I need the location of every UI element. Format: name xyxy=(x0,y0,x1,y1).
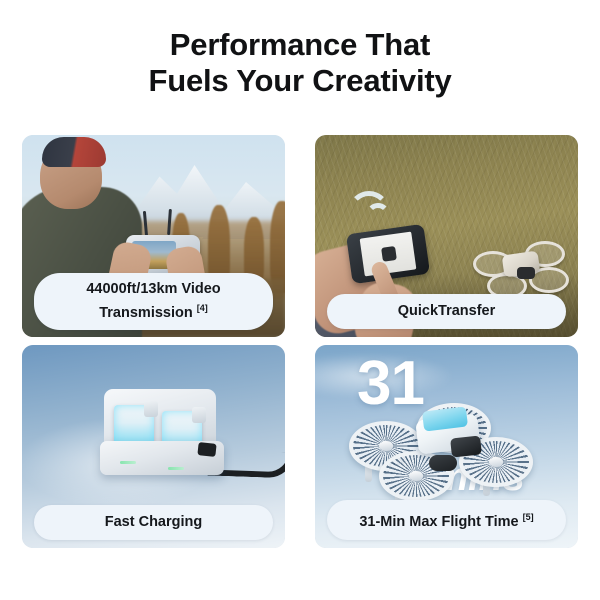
charge-indicator-led xyxy=(168,467,184,470)
drone-gimbal xyxy=(429,455,457,471)
wifi-arc-inner xyxy=(366,203,390,227)
rotor-hub xyxy=(379,441,393,451)
card-label-flight-time: 31-Min Max Flight Time [5] xyxy=(327,500,566,540)
card-label-quicktransfer: QuickTransfer xyxy=(327,294,566,329)
page-title: Performance That Fuels Your Creativity xyxy=(0,27,600,99)
card-label-line-1: 44000ft/13km Video xyxy=(86,281,220,297)
promo-page: Performance That Fuels Your Creativity xyxy=(0,0,600,600)
feature-card-grid: 44000ft/13km Video Transmission [4] xyxy=(22,135,578,548)
card-label-text: 31-Min Max Flight Time xyxy=(359,514,518,530)
battery-cap xyxy=(192,407,206,423)
cable-plug xyxy=(197,442,216,457)
footnote-marker: [5] xyxy=(523,512,534,522)
card-label-fast-charging: Fast Charging xyxy=(34,505,273,540)
drone-camera xyxy=(450,435,482,457)
card-label-text: Fast Charging xyxy=(105,514,202,530)
feature-card-fast-charging[interactable]: Fast Charging xyxy=(22,345,285,548)
card-label-video-transmission: 44000ft/13km Video Transmission [4] xyxy=(34,273,273,330)
battery-cap xyxy=(144,401,158,417)
charging-hub xyxy=(100,389,224,475)
feature-card-quicktransfer[interactable]: QuickTransfer xyxy=(315,135,578,337)
rotor-hub xyxy=(489,457,503,467)
rotor-hub xyxy=(409,471,423,481)
footnote-marker: [4] xyxy=(197,303,208,313)
wifi-transfer-icon xyxy=(367,191,413,225)
charge-indicator-led xyxy=(120,461,136,464)
feature-card-flight-time[interactable]: 31 mins 31-Min Max Flight Time xyxy=(315,345,578,548)
page-title-line-2: Fuels Your Creativity xyxy=(0,63,600,99)
card-label-line-2: Transmission xyxy=(99,305,192,321)
page-title-line-1: Performance That xyxy=(0,27,600,63)
person-hat xyxy=(42,137,106,167)
card-label-text: QuickTransfer xyxy=(398,303,496,319)
feature-card-video-transmission[interactable]: 44000ft/13km Video Transmission [4] xyxy=(22,135,285,337)
phone-thumbnail xyxy=(381,246,397,262)
drone-camera xyxy=(517,267,535,279)
drone-flying xyxy=(343,397,551,507)
